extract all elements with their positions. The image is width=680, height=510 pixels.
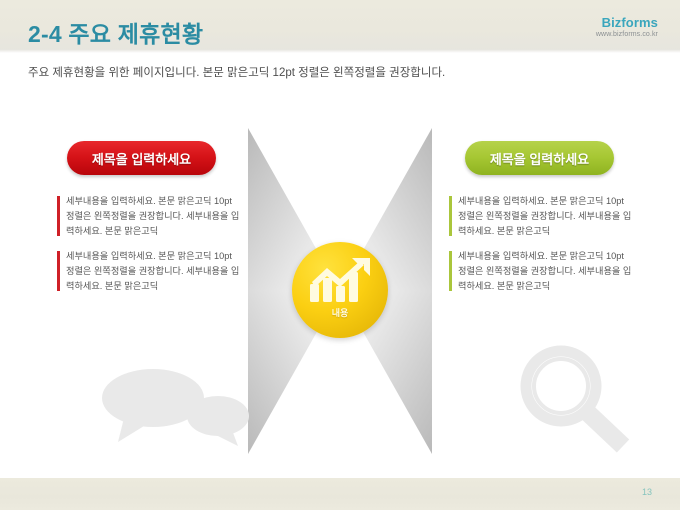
brand-url: www.bizforms.co.kr [596,31,658,39]
left-text-block-1: 세부내용을 입력하세요. 본문 맑은고딕 10pt 정렬은 왼쪽정렬을 권장합니… [57,194,242,239]
left-badge-title[interactable]: 제목을 입력하세요 [67,141,216,175]
center-circle[interactable]: 내용 [292,242,388,338]
bar-chart-growth-icon [308,258,372,304]
page-title: 2-4 주요 제휴현황 [28,15,203,49]
right-text-block-2: 세부내용을 입력하세요. 본문 맑은고딕 10pt 정렬은 왼쪽정렬을 권장합니… [449,249,634,294]
right-text-block-1: 세부내용을 입력하세요. 본문 맑은고딕 10pt 정렬은 왼쪽정렬을 권장합니… [449,194,634,239]
page-subtitle: 주요 제휴현황을 위한 페이지입니다. 본문 맑은고딕 12pt 정렬은 왼쪽정… [28,64,445,80]
header-band-fade [0,49,680,53]
slide-canvas: 2-4 주요 제휴현황 Bizforms www.bizforms.co.kr … [0,0,680,510]
footer-band [0,478,680,510]
brand-name: Bizforms [596,16,658,31]
left-text-block-2: 세부내용을 입력하세요. 본문 맑은고딕 10pt 정렬은 왼쪽정렬을 권장합니… [57,249,242,294]
page-number: 13 [642,487,652,497]
right-badge-title[interactable]: 제목을 입력하세요 [465,141,614,175]
speech-bubbles-icon [96,368,256,446]
brand-logo: Bizforms www.bizforms.co.kr [596,16,658,39]
magnifier-icon [515,342,637,454]
center-circle-label: 내용 [292,306,388,319]
